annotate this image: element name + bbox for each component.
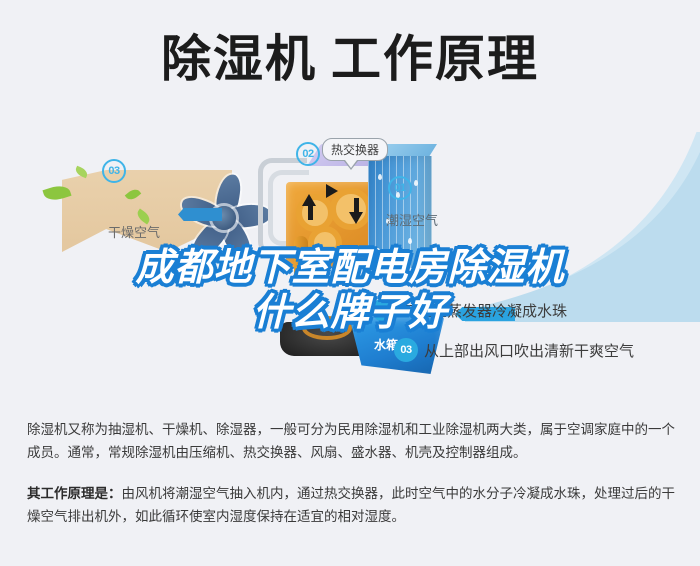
- step-line-03: 03 从上部出风口吹出清新干爽空气: [394, 338, 634, 362]
- compressor-tube: [294, 236, 308, 280]
- article-body: 除湿机又称为抽湿机、干燥机、除湿器，一般可分为民用除湿机和工业除湿机两大类，属于…: [27, 418, 675, 546]
- water-droplet-icon: [376, 248, 380, 254]
- water-droplet-icon: [408, 238, 412, 244]
- callout-bubble-heat-exchanger: 热交换器: [322, 138, 388, 161]
- callout-badge-01: 01: [388, 176, 412, 200]
- flow-arrow-stem: [354, 198, 359, 212]
- callout-label-dry-air: 干燥空气: [108, 222, 160, 241]
- paragraph-2: 其工作原理是：由风机将潮湿空气抽入机内，通过热交换器，此时空气中的水分子冷凝成水…: [27, 482, 675, 528]
- step-line-02: 02 气经过蒸发器冷凝成水珠: [372, 298, 567, 322]
- water-droplet-icon: [378, 174, 382, 180]
- page-title: 除湿机工作原理: [161, 34, 539, 84]
- callout-badge-02: 02: [296, 142, 320, 166]
- step-text-03: 从上部出风口吹出清新干爽空气: [424, 340, 634, 361]
- step-text-02: 气经过蒸发器冷凝成水珠: [402, 300, 567, 321]
- flow-arrow-stem: [308, 206, 313, 220]
- paragraph-1: 除湿机又称为抽湿机、干燥机、除湿器，一般可分为民用除湿机和工业除湿机两大类，属于…: [27, 418, 675, 464]
- air-intake-arrow-icon: [178, 208, 222, 221]
- paragraph-2-lead: 其工作原理是：: [27, 486, 122, 501]
- coil-ring-icon: [308, 226, 342, 260]
- flow-arrow-right-icon: [326, 184, 338, 198]
- step-badge-02: 02: [372, 298, 396, 322]
- page-header: 除湿机工作原理: [0, 0, 700, 118]
- callout-label-humid-air: 潮湿空气: [386, 210, 438, 229]
- flow-arrow-down-icon: [349, 212, 363, 224]
- page-title-part1: 除湿机: [161, 31, 317, 87]
- page-title-part2: 工作原理: [331, 31, 539, 87]
- callout-badge-03: 03: [102, 159, 126, 183]
- dehumidifier-diagram: 水箱 03 干燥空气 02 热交换器 01 潮湿空气 02 气经过蒸发器冷凝成水…: [0, 112, 700, 397]
- flow-arrow-up-icon: [302, 194, 316, 206]
- water-droplet-icon: [414, 180, 418, 186]
- paragraph-2-rest: 由风机将潮湿空气抽入机内，通过热交换器，此时空气中的水分子冷凝成水珠，处理过后的…: [27, 486, 675, 524]
- base-ring-icon: [302, 316, 352, 340]
- step-badge-03: 03: [394, 338, 418, 362]
